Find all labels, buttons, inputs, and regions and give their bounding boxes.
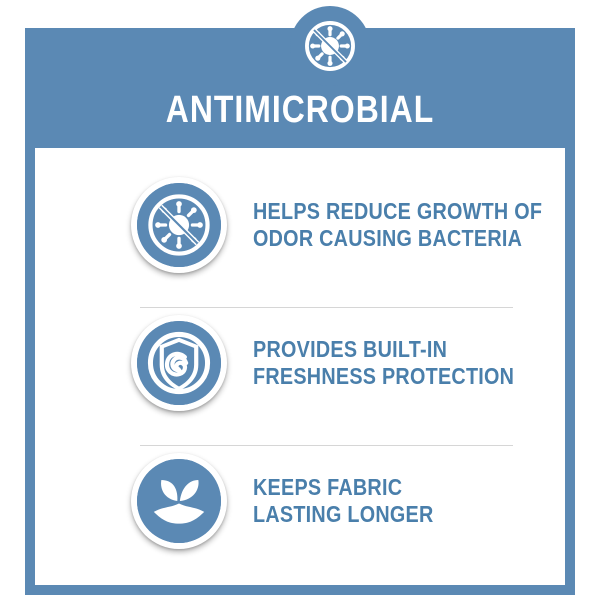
shield-swirl-icon	[131, 315, 227, 411]
feature-text-line: LASTING LONGER	[253, 501, 434, 528]
feature-text: PROVIDES BUILT-IN FRESHNESS PROTECTION	[253, 336, 514, 390]
germ-prohibited-icon	[290, 6, 370, 86]
feature-text-line: FRESHNESS PROTECTION	[253, 363, 514, 390]
feature-text: HELPS REDUCE GROWTH OF ODOR CAUSING BACT…	[253, 198, 542, 252]
feature-text: KEEPS FABRIC LASTING LONGER	[253, 474, 434, 528]
content-panel: HELPS REDUCE GROWTH OF ODOR CAUSING BACT…	[35, 148, 565, 585]
feature-text-line: KEEPS FABRIC	[253, 474, 434, 501]
antimicrobial-infographic: ANTIMICROBIAL	[0, 0, 600, 600]
feature-row: HELPS REDUCE GROWTH OF ODOR CAUSING BACT…	[35, 166, 565, 284]
germ-prohibited-icon	[131, 177, 227, 273]
leaf-fabric-icon	[131, 453, 227, 549]
header-band: ANTIMICROBIAL	[25, 28, 575, 148]
feature-text-line: PROVIDES BUILT-IN	[253, 336, 514, 363]
blue-frame: ANTIMICROBIAL	[25, 28, 575, 595]
feature-row: KEEPS FABRIC LASTING LONGER	[35, 442, 565, 560]
feature-row: PROVIDES BUILT-IN FRESHNESS PROTECTION	[35, 304, 565, 422]
feature-text-line: ODOR CAUSING BACTERIA	[253, 225, 542, 252]
page-title: ANTIMICROBIAL	[69, 90, 531, 130]
feature-text-line: HELPS REDUCE GROWTH OF	[253, 198, 542, 225]
